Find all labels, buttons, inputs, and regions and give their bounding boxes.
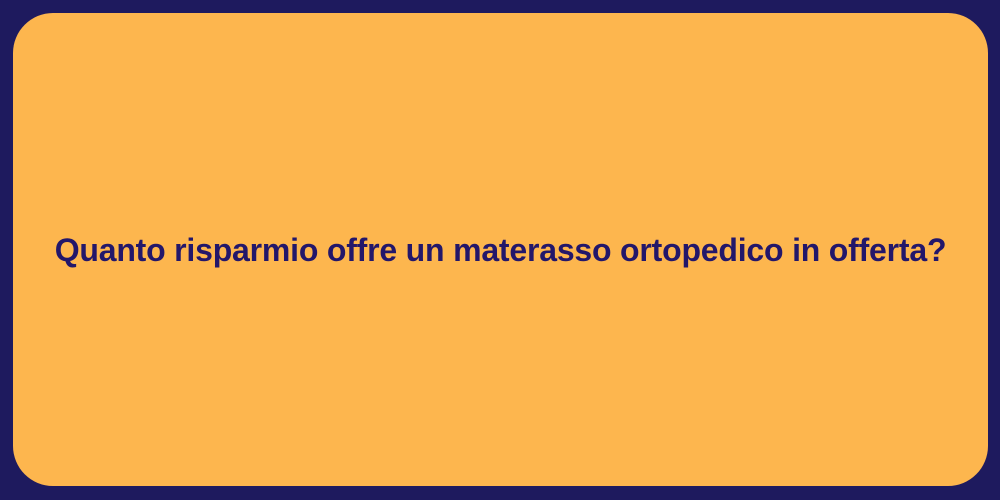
card-panel: Quanto risparmio offre un materasso orto… bbox=[13, 13, 988, 486]
card-frame: Quanto risparmio offre un materasso orto… bbox=[0, 0, 1000, 500]
headline-text: Quanto risparmio offre un materasso orto… bbox=[55, 230, 947, 270]
